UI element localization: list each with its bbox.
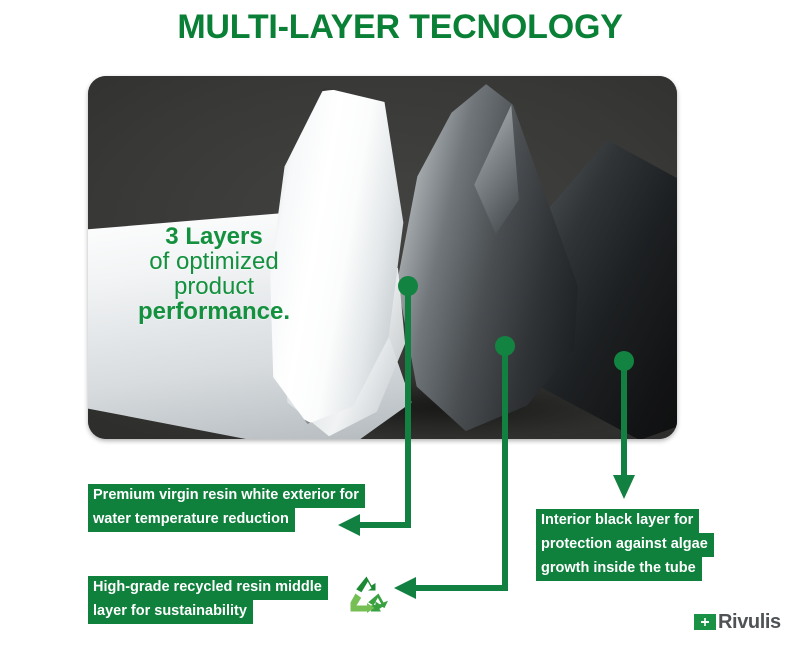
callout-recycled-line-2: layer for sustainability <box>88 600 253 624</box>
callout-premium-line-2: water temperature reduction <box>88 508 295 532</box>
callout-recycled-middle: High-grade recycled resin middle layer f… <box>88 576 328 624</box>
callout-premium-line-1: Premium virgin resin white exterior for <box>88 484 365 508</box>
callout-interior-line-1: Interior black layer for <box>536 509 699 533</box>
caption-line-2: of optimized <box>108 249 320 274</box>
photo-caption: 3 Layers of optimized product performanc… <box>108 224 320 324</box>
caption-line-4: performance. <box>108 299 320 324</box>
callout-interior-line-3: growth inside the tube <box>536 557 702 581</box>
rivulis-logo-mark-icon <box>694 614 716 630</box>
recycle-icon <box>345 572 393 620</box>
callout-interior-black: Interior black layer for protection agai… <box>536 509 714 581</box>
callout-recycled-line-1: High-grade recycled resin middle <box>88 576 328 600</box>
rivulis-logo: Rivulis <box>694 612 781 632</box>
callout-interior-line-2: protection against algae <box>536 533 714 557</box>
rivulis-logo-text: Rivulis <box>718 612 781 632</box>
caption-line-1: 3 Layers <box>108 224 320 249</box>
callout-premium-exterior: Premium virgin resin white exterior for … <box>88 484 365 532</box>
page-title: MULTI-LAYER TECNOLOGY <box>0 8 800 47</box>
caption-line-3: product <box>108 274 320 299</box>
